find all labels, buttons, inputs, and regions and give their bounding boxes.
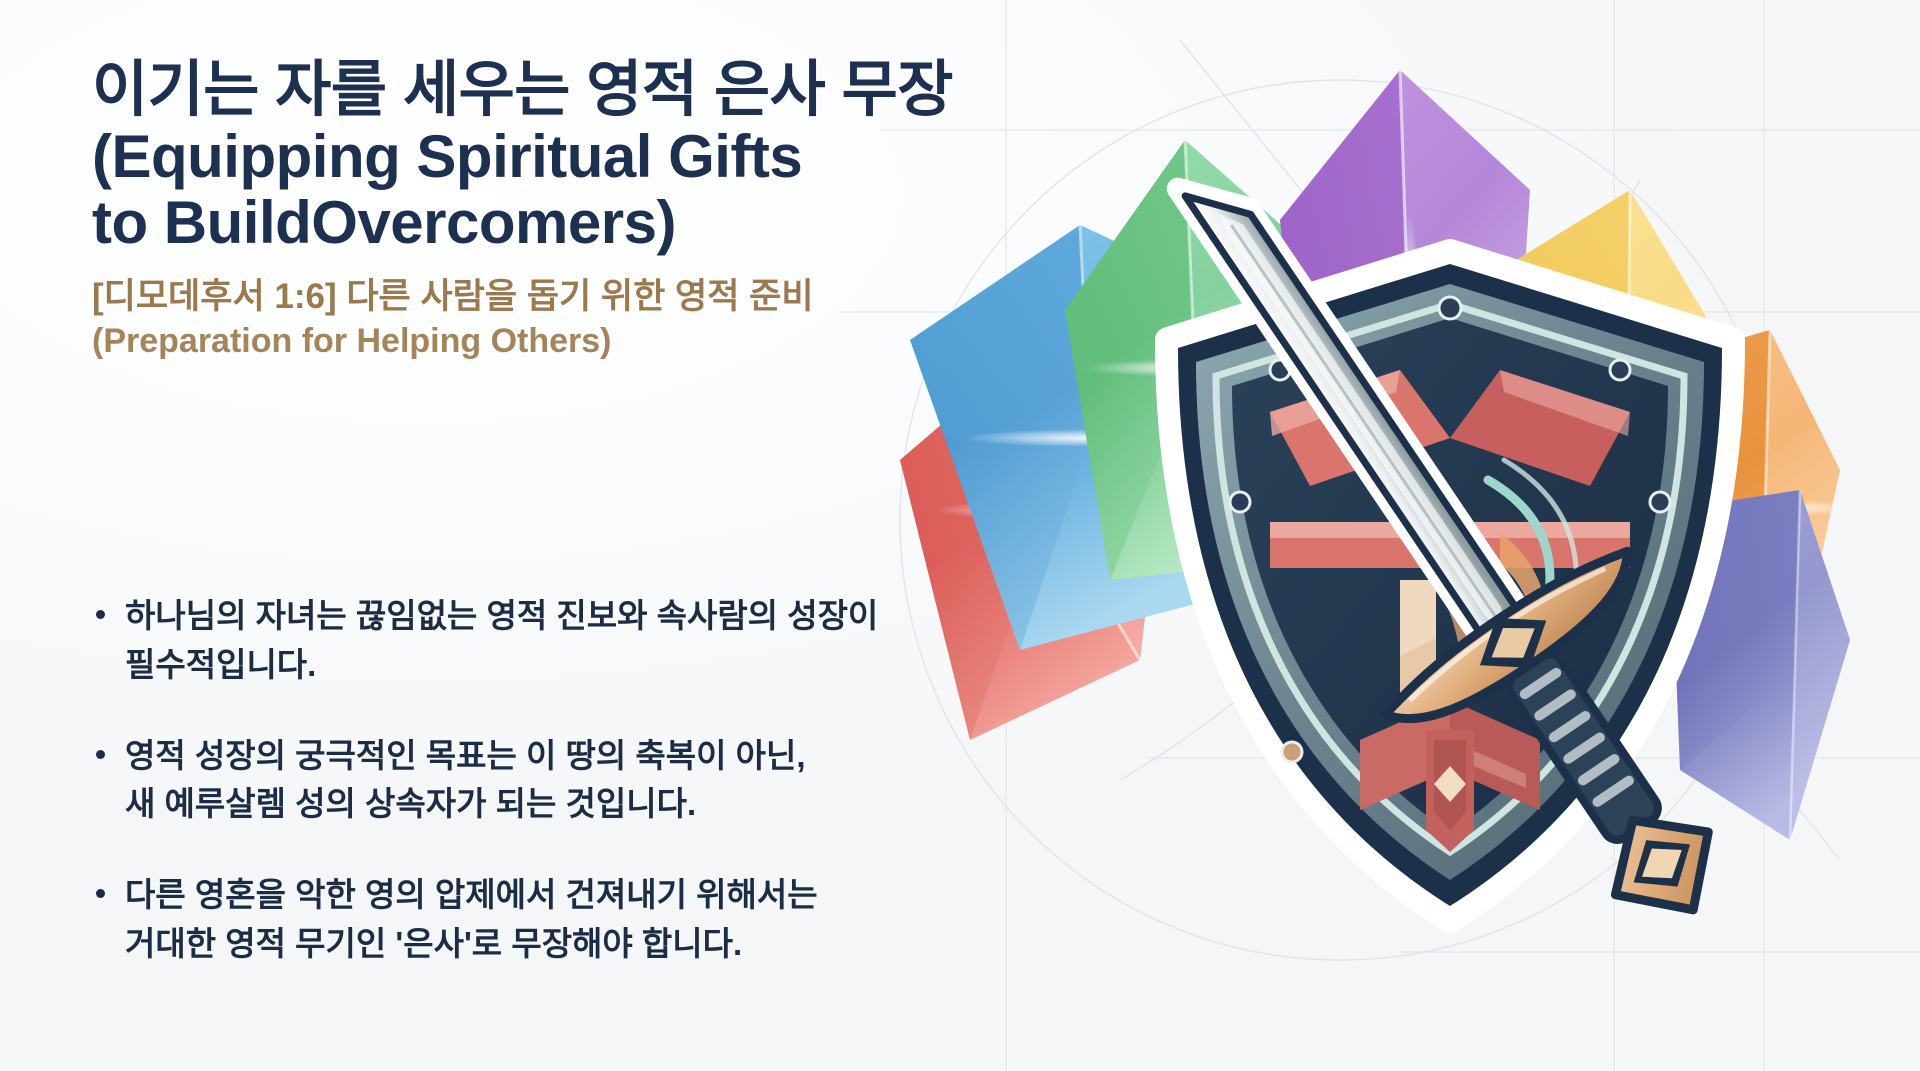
bullet-line: 필수적입니다.: [125, 641, 972, 690]
subtitle: [디모데후서 1:6] 다른 사람을 돕기 위한 영적 준비 (Preparat…: [92, 275, 1092, 363]
list-item: 하나님의 자녀는 끊임없는 영적 진보와 속사람의 성장이 필수적입니다.: [92, 592, 972, 690]
title-line-english-2: to BuildOvercomers): [92, 190, 1092, 257]
subtitle-line-english: (Preparation for Helping Others): [92, 320, 1092, 364]
bullet-text: 하나님의 자녀는 끊임없는 영적 진보와 속사람의 성장이 필수적입니다.: [125, 592, 972, 690]
title-line-korean: 이기는 자를 세우는 영적 은사 무장: [92, 56, 1092, 124]
list-item: 다른 영혼을 악한 영의 압제에서 건져내기 위해서는 거대한 영적 무기인 '…: [92, 871, 972, 969]
bullet-line: 영적 성장의 궁극적인 목표는 이 땅의 축복이 아닌,: [125, 732, 972, 781]
bullet-list: 하나님의 자녀는 끊임없는 영적 진보와 속사람의 성장이 필수적입니다. 영적…: [92, 592, 972, 969]
text-column: 이기는 자를 세우는 영적 은사 무장 (Equipping Spiritual…: [92, 56, 1092, 363]
bullet-line: 하나님의 자녀는 끊임없는 영적 진보와 속사람의 성장이: [125, 592, 972, 641]
bullet-line: 다른 영혼을 악한 영의 압제에서 건져내기 위해서는: [125, 871, 972, 920]
subtitle-line-korean: [디모데후서 1:6] 다른 사람을 돕기 위한 영적 준비: [92, 275, 1092, 320]
bullet-dot-icon: [96, 889, 105, 898]
bullet-dot-icon: [96, 750, 105, 759]
bullet-dot-icon: [96, 610, 105, 619]
bullet-text: 영적 성장의 궁극적인 목표는 이 땅의 축복이 아닌, 새 예루살렘 성의 상…: [125, 732, 972, 830]
title-line-english-1: (Equipping Spiritual Gifts: [92, 124, 1092, 191]
list-item: 영적 성장의 궁극적인 목표는 이 땅의 축복이 아닌, 새 예루살렘 성의 상…: [92, 732, 972, 830]
page-title: 이기는 자를 세우는 영적 은사 무장 (Equipping Spiritual…: [92, 56, 1092, 257]
bullet-text: 다른 영혼을 악한 영의 압제에서 건져내기 위해서는 거대한 영적 무기인 '…: [125, 871, 972, 969]
bullet-line: 새 예루살렘 성의 상속자가 되는 것입니다.: [125, 780, 972, 829]
slide-canvas: 이기는 자를 세우는 영적 은사 무장 (Equipping Spiritual…: [0, 0, 1920, 1071]
bullet-line: 거대한 영적 무기인 '은사'로 무장해야 합니다.: [125, 920, 972, 969]
